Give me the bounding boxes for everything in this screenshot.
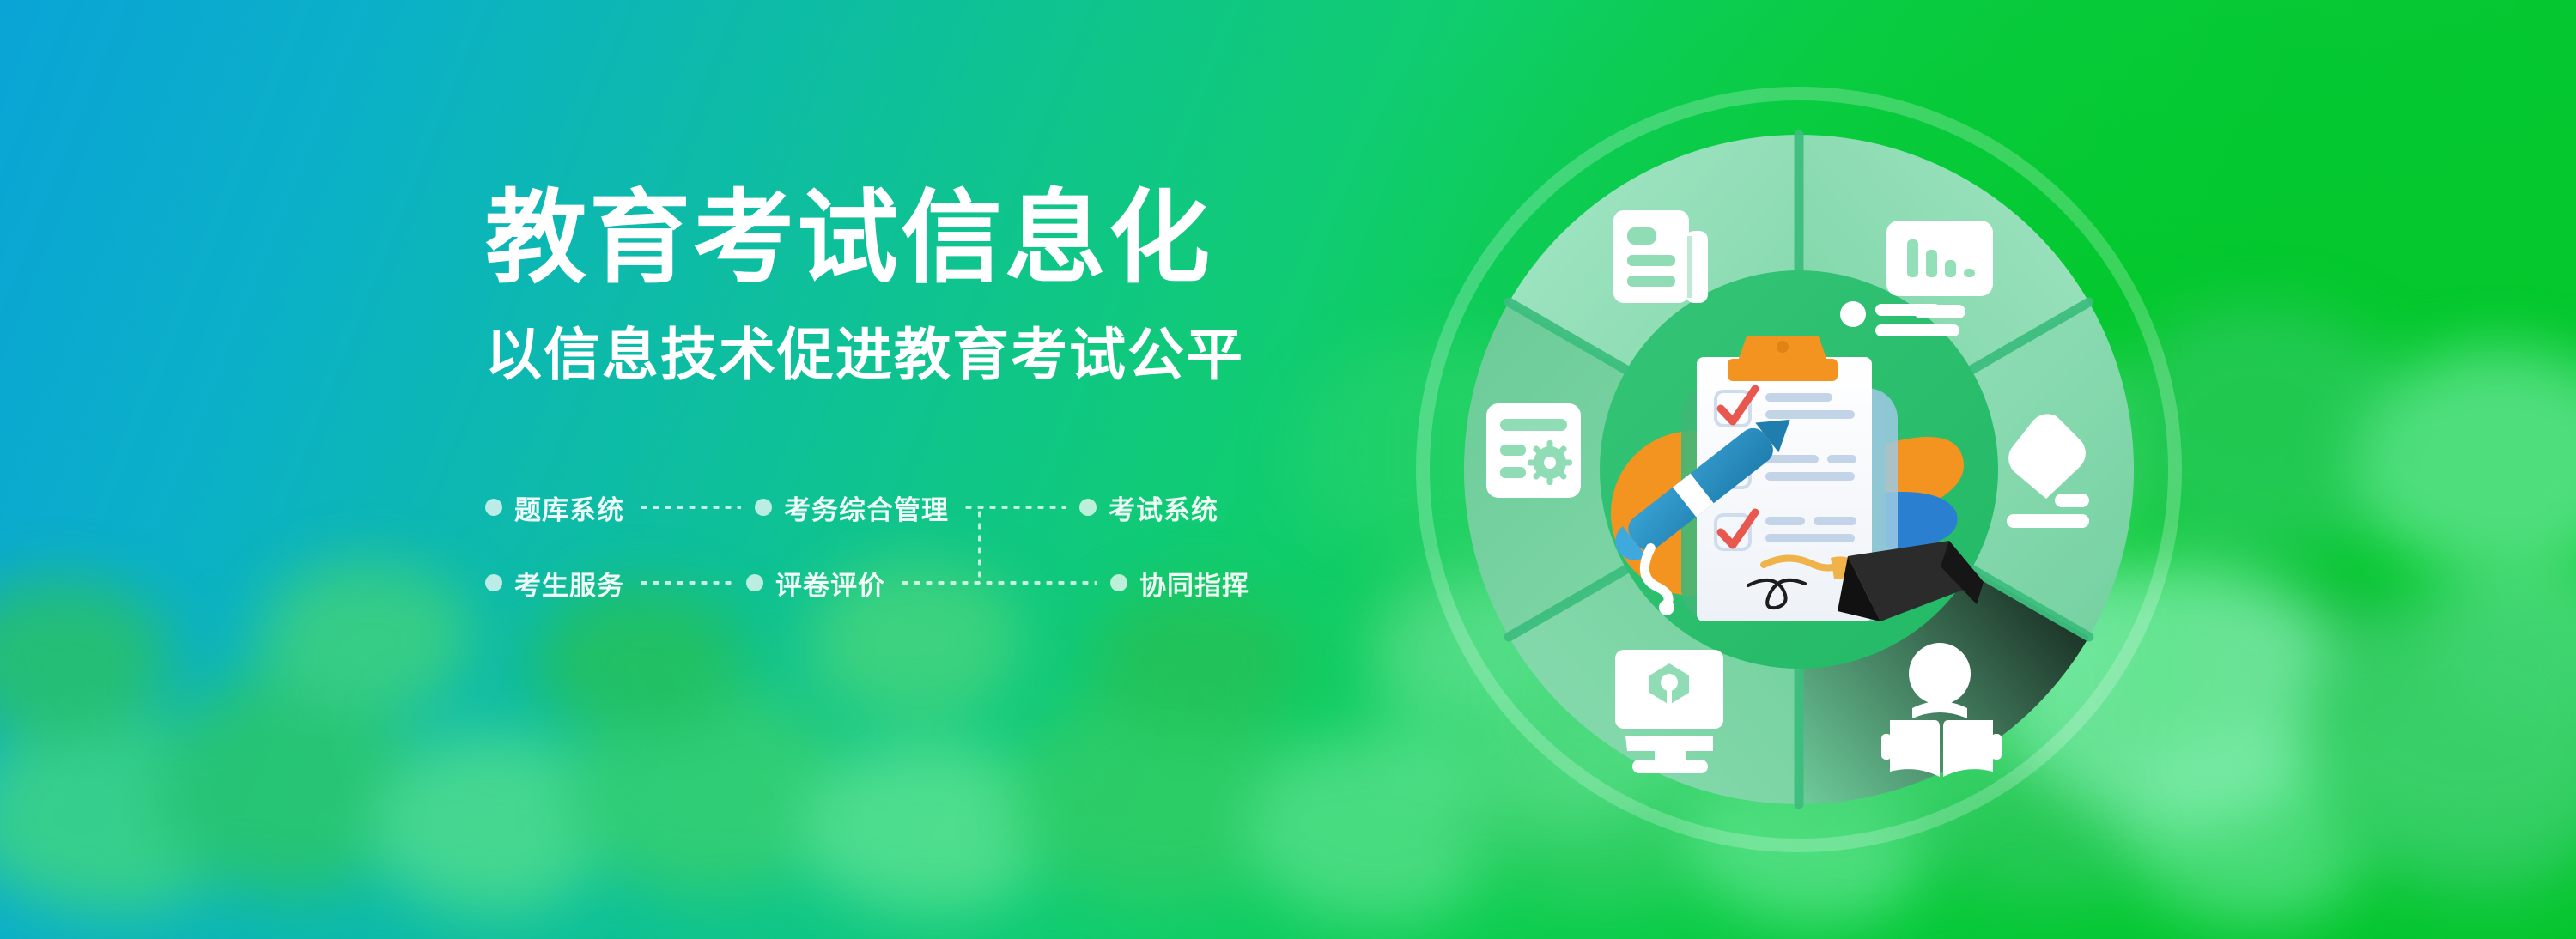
flow-node-tiku[interactable]: 题库系统 (485, 488, 624, 527)
bullet-dot-icon (485, 574, 502, 591)
flow-node-label: 题库系统 (514, 488, 624, 527)
bullet-dot-icon (1110, 574, 1127, 591)
crowd-photo-overlay-right (0, 0, 2576, 939)
settings-document-icon (1486, 403, 1581, 498)
flow-row-1: 题库系统 考务综合管理 考试系统 (485, 485, 1258, 530)
flow-row-2: 考生服务 评卷评价 协同指挥 (485, 560, 1258, 605)
bullet-dot-icon (746, 574, 763, 591)
bullet-dot-icon (485, 499, 502, 516)
flow-node-label: 考生服务 (514, 564, 624, 603)
clipboard-clip (1728, 336, 1838, 381)
bullet-dot-icon (755, 499, 772, 516)
flow-connector-dotted (638, 581, 732, 585)
banner-root: 教育考试信息化 以信息技术促进教育考试公平 题库系统 考务综合管理 考试系统 (0, 0, 2576, 939)
flow-connector-vertical-dotted (978, 508, 981, 584)
list-dot-marker (1840, 301, 1959, 336)
flow-node-label: 协同指挥 (1139, 564, 1249, 603)
flow-node-label: 考试系统 (1109, 488, 1218, 527)
module-flow: 题库系统 考务综合管理 考试系统 考生服务 评卷评价 (485, 485, 1258, 605)
page-title: 教育考试信息化 (485, 185, 1344, 294)
flow-connector-dotted (638, 506, 741, 509)
page-subtitle: 以信息技术促进教育考试公平 (485, 323, 1344, 388)
bullet-dot-icon (1079, 499, 1097, 516)
flow-node-label: 评卷评价 (775, 564, 885, 603)
flow-node-kaoshi[interactable]: 考试系统 (1079, 488, 1218, 527)
flow-connector-dotted (899, 581, 1097, 585)
headline-block: 教育考试信息化 以信息技术促进教育考试公平 (485, 185, 1344, 388)
flow-node-kaowu[interactable]: 考务综合管理 (755, 488, 949, 527)
flow-node-xietong[interactable]: 协同指挥 (1110, 564, 1249, 603)
clipboard-checklist-illustration (1580, 283, 2001, 661)
flow-node-kaosheng[interactable]: 考生服务 (485, 564, 624, 603)
flow-node-pingjuan[interactable]: 评卷评价 (746, 564, 885, 603)
flow-node-label: 考务综合管理 (784, 488, 949, 527)
